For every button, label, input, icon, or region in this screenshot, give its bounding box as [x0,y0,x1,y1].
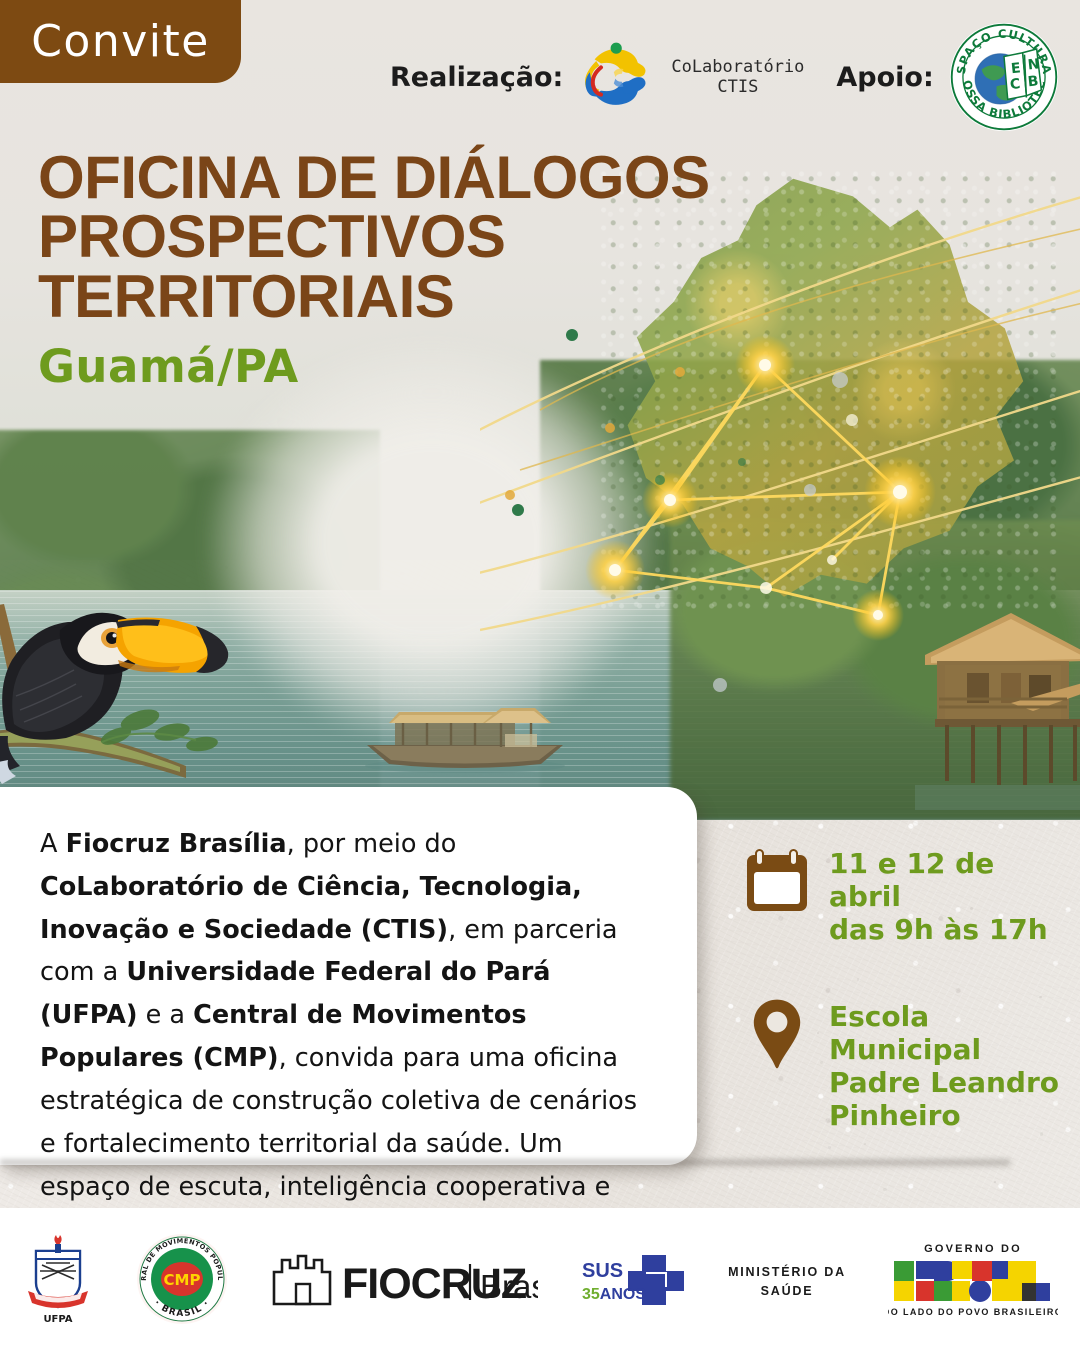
event-place-line1: Escola Municipal [829,1000,1075,1066]
event-date-text: 11 e 12 de abril das 9h às 17h [829,845,1075,946]
description-card: A Fiocruz Brasília, por meio do CoLabora… [0,787,697,1165]
ministerio-da-saude-logo: MINISTÉRIO DA SAÚDE [728,1256,846,1302]
toucan-illustration [0,560,250,810]
header-credits: Realização: CoLaboratório CTIS Apoio: [390,22,1060,132]
gov-label-bottom: DO LADO DO POVO BRASILEIRO [888,1307,1058,1317]
svg-text:B: B [1027,73,1039,90]
description-segment: A [40,829,66,859]
svg-text:N: N [1027,56,1040,73]
convite-badge: Convite [0,0,241,83]
title-line-3: TERRITORIAIS [38,267,818,326]
cmp-logo-label: CMP [164,1271,201,1289]
ministerio-label-line1: MINISTÉRIO DA [728,1264,846,1279]
sus-35-anos-logo: SUS 35ANOS [580,1251,686,1307]
ministerio-label-line2: SAÚDE [761,1283,814,1298]
fiocruz-brasilia-logo: FIOCRUZ Brasília [270,1248,538,1310]
map-pin-icon [745,998,809,1070]
description-segment: e a [138,1000,194,1030]
event-place-line3: Pinheiro [829,1099,1075,1132]
ufpa-logo-label: UFPA [43,1314,72,1325]
title-line-2: PROSPECTIVOS [38,207,818,266]
calendar-icon [745,845,809,917]
description-segment: , por meio do [287,829,457,859]
event-place-line2: Padre Leandro [829,1066,1075,1099]
realizacao-label: Realização: [390,62,563,93]
svg-text:C: C [1009,76,1021,93]
event-date-line1: 11 e 12 de abril [829,847,1075,913]
apoio-label: Apoio: [836,62,933,93]
gov-label-top: GOVERNO DO [924,1243,1022,1255]
cmp-logo: CMP CENTRAL DE MOVIMENTOS POPULARES · BR… [136,1233,228,1325]
governo-do-brasil-logo: GOVERNO DO [888,1239,1058,1319]
page-title: OFICINA DE DIÁLOGOS PROSPECTIVOS TERRITO… [38,148,818,326]
ctis-name-line1: CoLaboratório [671,57,804,77]
ctis-name-line2: CTIS [671,77,804,97]
event-place-row: Escola Municipal Padre Leandro Pinheiro [745,998,1075,1132]
event-date-line2: das 9h às 17h [829,913,1075,946]
convite-badge-label: Convite [31,16,210,67]
fiocruz-logo-sublabel: Brasília [480,1268,538,1305]
event-date-row: 11 e 12 de abril das 9h às 17h [745,845,1075,946]
ctis-logo-name: CoLaboratório CTIS [671,57,804,98]
sus-logo-sublabel: 35ANOS [582,1286,646,1303]
description-bold-segment: Fiocruz Brasília [66,829,287,859]
event-meta: 11 e 12 de abril das 9h às 17h Escola Mu… [745,845,1075,1184]
colaboratorio-ctis-logo [577,37,657,117]
event-place-text: Escola Municipal Padre Leandro Pinheiro [829,998,1075,1132]
footer-logo-bar: UFPA CMP CENTRAL DE MOVIMENTOS POPULARES… [0,1208,1080,1350]
espaco-cultural-nossa-biblioteca-logo: ESPAÇO CULTURAL NOSSA BIBLIOTECA E C N B [948,21,1060,133]
ufpa-logo: UFPA [22,1233,94,1325]
title-line-1: OFICINA DE DIÁLOGOS [38,148,818,207]
sus-logo-label: SUS [582,1260,623,1282]
title-block: OFICINA DE DIÁLOGOS PROSPECTIVOS TERRITO… [38,148,818,393]
poster-root: Convite Realização: CoLaboratório CTIS A… [0,0,1080,1350]
svg-text:E: E [1010,60,1021,77]
title-subtitle: Guamá/PA [38,340,818,393]
